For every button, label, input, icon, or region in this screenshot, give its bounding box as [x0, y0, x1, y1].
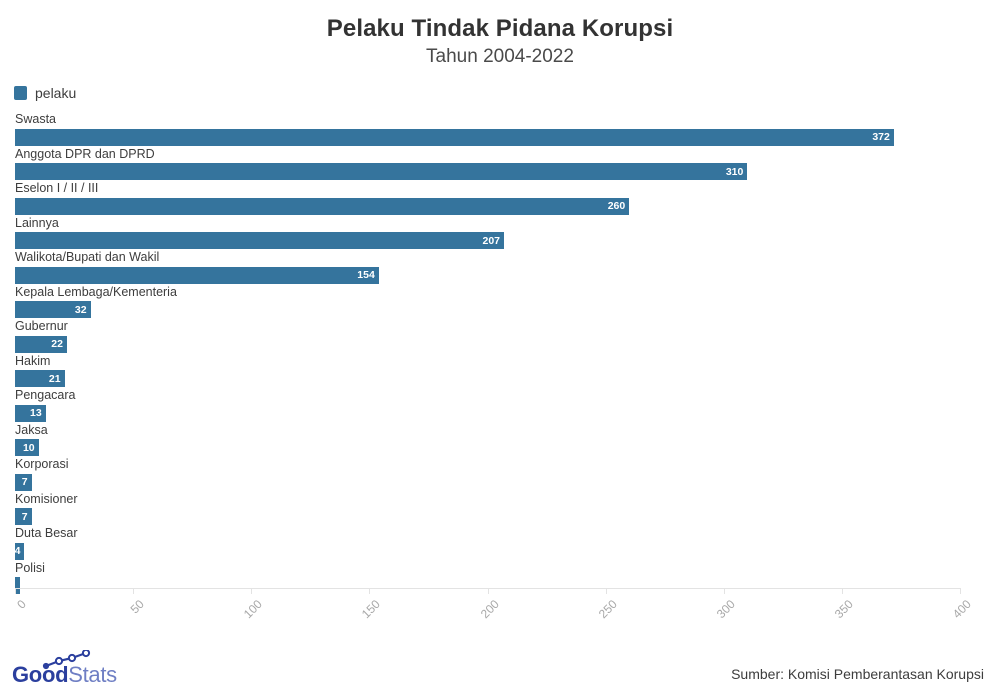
bar[interactable]: 372 — [15, 129, 894, 146]
bar[interactable]: 22 — [15, 336, 67, 353]
category-label: Polisi — [15, 562, 960, 578]
bar[interactable]: 32 — [15, 301, 91, 318]
bar-track: 7 — [15, 474, 960, 491]
bar-track: 260 — [15, 198, 960, 215]
bar-row: Kepala Lembaga/Kementeria32 — [15, 286, 960, 321]
axis-tick-label: 400 — [950, 597, 974, 621]
bar[interactable]: 154 — [15, 267, 379, 284]
bar-value-label: 21 — [49, 373, 61, 384]
axis-tick-label: 300 — [714, 597, 738, 621]
category-label: Pengacara — [15, 389, 960, 405]
bar-track: 310 — [15, 163, 960, 180]
axis-tick-label: 200 — [477, 597, 501, 621]
goodstats-logo: Good Stats — [12, 662, 117, 688]
bar-track: 154 — [15, 267, 960, 284]
bar[interactable]: 260 — [15, 198, 629, 215]
axis-tick — [15, 588, 16, 594]
square-swatch-icon — [14, 86, 27, 100]
bar-value-label: 22 — [51, 339, 63, 350]
bar-value-label: 310 — [726, 166, 744, 177]
bar-value-label: 4 — [15, 546, 21, 557]
axis-tick-label: 250 — [595, 597, 619, 621]
category-label: Swasta — [15, 113, 960, 129]
axis-tick — [133, 588, 134, 594]
category-label: Gubernur — [15, 320, 960, 336]
axis-tick — [724, 588, 725, 594]
bar[interactable]: 310 — [15, 163, 747, 180]
bar-track: 13 — [15, 405, 960, 422]
chart-footer: Good Stats Sumber: Komisi Pemberantasan … — [0, 644, 1000, 700]
bar[interactable]: 10 — [15, 439, 39, 456]
source-note: Sumber: Komisi Pemberantasan Korupsi — [731, 666, 984, 682]
bar-track: 32 — [15, 301, 960, 318]
bar-value-label: 372 — [872, 132, 890, 143]
bar-track: 207 — [15, 232, 960, 249]
category-label: Jaksa — [15, 424, 960, 440]
chart-legend[interactable]: pelaku — [0, 85, 1000, 101]
bar-track: 21 — [15, 370, 960, 387]
bar[interactable]: 21 — [15, 370, 65, 387]
bar-track: 372 — [15, 129, 960, 146]
category-label: Duta Besar — [15, 527, 960, 543]
bar[interactable]: 4 — [15, 543, 24, 560]
bar-track: 4 — [15, 543, 960, 560]
bar-row: Eselon I / II / III260 — [15, 182, 960, 217]
bar[interactable]: 7 — [15, 508, 32, 525]
page-title: Pelaku Tindak Pidana Korupsi — [0, 14, 1000, 43]
bar-row: Swasta372 — [15, 113, 960, 148]
axis-tick-label: 50 — [128, 597, 147, 616]
axis-tick — [369, 588, 370, 594]
line-chart-logo-icon — [42, 650, 98, 670]
category-label: Korporasi — [15, 458, 960, 474]
bar-value-label: 207 — [483, 235, 501, 246]
axis-tick — [606, 588, 607, 594]
bar-row: Duta Besar4 — [15, 527, 960, 562]
bar-track: 7 — [15, 508, 960, 525]
bar-value-label: 154 — [357, 270, 375, 281]
axis-tick-label: 350 — [832, 597, 856, 621]
axis-tick-label: 0 — [14, 597, 29, 612]
chart-subtitle: Tahun 2004-2022 — [0, 46, 1000, 69]
legend-item-label: pelaku — [35, 85, 76, 101]
category-label: Komisioner — [15, 493, 960, 509]
bar-value-label: 260 — [608, 201, 626, 212]
category-label: Hakim — [15, 355, 960, 371]
bar-row: Gubernur22 — [15, 320, 960, 355]
bar-row: Walikota/Bupati dan Wakil154 — [15, 251, 960, 286]
bar-value-label: 10 — [23, 442, 35, 453]
bar-track: 22 — [15, 336, 960, 353]
category-label: Lainnya — [15, 217, 960, 233]
bar[interactable]: 7 — [15, 474, 32, 491]
bar-row: Hakim21 — [15, 355, 960, 390]
category-label: Anggota DPR dan DPRD — [15, 148, 960, 164]
bar-value-label: 7 — [22, 477, 28, 488]
bar-row: Lainnya207 — [15, 217, 960, 252]
axis-tick — [842, 588, 843, 594]
axis-tick — [251, 588, 252, 594]
bar-row: Anggota DPR dan DPRD310 — [15, 148, 960, 183]
bar-track: 10 — [15, 439, 960, 456]
category-label: Eselon I / II / III — [15, 182, 960, 198]
axis-tick-label: 100 — [241, 597, 265, 621]
category-label: Walikota/Bupati dan Wakil — [15, 251, 960, 267]
chart-header: Pelaku Tindak Pidana Korupsi Tahun 2004-… — [0, 0, 1000, 69]
axis-tick — [960, 588, 961, 594]
bar-row: Korporasi7 — [15, 458, 960, 493]
bar-value-label: 32 — [75, 304, 87, 315]
bar-value-label: 7 — [22, 511, 28, 522]
bar-row: Komisioner7 — [15, 493, 960, 528]
bar[interactable]: 13 — [15, 405, 46, 422]
axis-tick-label: 150 — [359, 597, 383, 621]
bar-rows: Swasta372Anggota DPR dan DPRD310Eselon I… — [15, 113, 960, 596]
bar-row: Pengacara13 — [15, 389, 960, 424]
axis-tick — [488, 588, 489, 594]
plot-area: Swasta372Anggota DPR dan DPRD310Eselon I… — [15, 113, 960, 588]
bar-value-label: 13 — [30, 408, 42, 419]
bar-row: Jaksa10 — [15, 424, 960, 459]
category-label: Kepala Lembaga/Kementeria — [15, 286, 960, 302]
bar[interactable]: 207 — [15, 232, 504, 249]
